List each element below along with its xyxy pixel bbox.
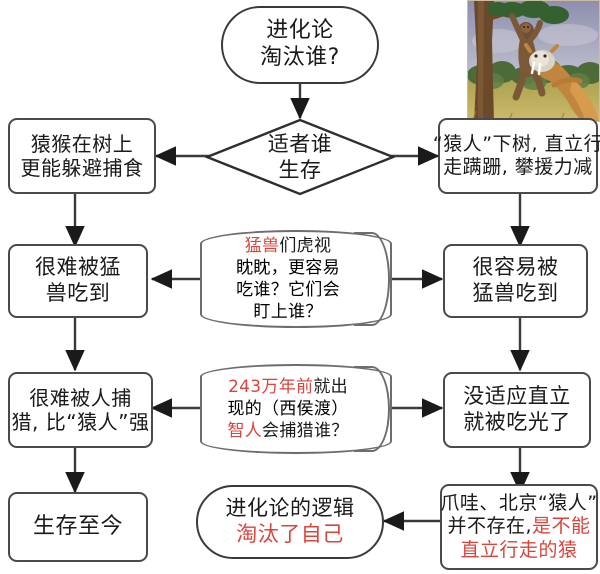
left-branch-node-1[interactable]: 猿猴在树上 更能躲避捕食 <box>8 118 156 194</box>
cyl-2-seg-1b: 就出 <box>313 377 348 397</box>
cyl-2-seg-3a: 智人 <box>227 421 262 441</box>
cyl-2-line-1: 243万年前就出 <box>228 376 348 398</box>
start-line-2: 淘汰谁? <box>260 45 340 72</box>
cyl-2-seg-3b: 会捕猎谁？ <box>262 421 349 441</box>
right-4-seg-1: 爪哇、北京“猿人” <box>440 492 597 514</box>
right-1-line-2: 走蹒跚, 攀援力减 <box>443 156 593 179</box>
start-node[interactable]: 进化论 淘汰谁? <box>221 6 379 84</box>
left-2-line-1: 很难被猛 <box>35 255 121 281</box>
right-branch-node-4[interactable]: 爪哇、北京“猿人” 并不存在,是不能 直立行走的猿 <box>440 484 598 570</box>
right-4-line-1: 爪哇、北京“猿人” <box>440 492 597 515</box>
right-4-line-2: 并不存在,是不能 <box>447 515 590 538</box>
left-1-line-2: 更能躲避捕食 <box>21 156 144 180</box>
right-branch-node-3[interactable]: 没适应直立 就被吃光了 <box>443 372 591 448</box>
flowchart-canvas: 进化论 淘汰谁? 适者谁 生存 猿猴在树上 更能躲避捕食 很难被猛 兽吃到 很难… <box>0 0 600 574</box>
cyl-1-seg-1b: 们虎视 <box>279 236 331 256</box>
conclusion-line-2: 淘汰了自己 <box>236 522 344 548</box>
left-3-line-2: 猎, 比“猿人”强 <box>12 410 150 434</box>
right-2-line-1: 很容易被 <box>473 255 559 281</box>
left-1-line-1: 猿猴在树上 <box>31 132 134 156</box>
decision-line-2: 生存 <box>279 157 322 183</box>
left-2-line-2: 兽吃到 <box>46 281 111 307</box>
right-4-seg-2a: 并不存在, <box>447 515 532 537</box>
conclusion-node[interactable]: 进化论的逻辑 淘汰了自己 <box>196 485 384 559</box>
start-line-1: 进化论 <box>266 18 334 45</box>
cyl-1-line-2: 眈眈，更容易 <box>236 257 340 279</box>
right-3-line-1: 没适应直立 <box>463 384 571 410</box>
question-cylinder-1[interactable]: 猛兽们虎视 眈眈，更容易 吃谁？它们会 盯上谁？ <box>200 230 392 328</box>
left-3-line-1: 很难被人捕 <box>29 386 132 410</box>
right-branch-node-2[interactable]: 很容易被 猛兽吃到 <box>443 244 588 318</box>
right-2-line-2: 猛兽吃到 <box>473 281 559 307</box>
conclusion-line-1: 进化论的逻辑 <box>226 496 355 522</box>
right-4-seg-2b: 是不能 <box>532 515 591 537</box>
left-branch-node-4[interactable]: 生存至今 <box>8 492 148 562</box>
decision-node[interactable]: 适者谁 生存 <box>205 118 395 196</box>
cyl-1-line-4: 盯上谁？ <box>253 301 322 323</box>
right-3-line-2: 就被吃光了 <box>463 410 571 436</box>
cyl-1-line-3: 吃谁？它们会 <box>236 279 340 301</box>
left-branch-node-3[interactable]: 很难被人捕 猎, 比“猿人”强 <box>8 372 153 448</box>
right-4-line-3: 直立行走的猿 <box>460 539 577 562</box>
left-4-line-1: 生存至今 <box>33 514 123 541</box>
right-1-line-1: “猿人”下树, 直立行 <box>433 133 600 156</box>
cyl-2-line-2: 现的（西侯渡） <box>227 398 348 420</box>
cyl-2-line-3: 智人会捕猎谁？ <box>227 420 348 442</box>
left-branch-node-2[interactable]: 很难被猛 兽吃到 <box>8 244 148 318</box>
cyl-1-line-1: 猛兽们虎视 <box>245 235 332 257</box>
right-branch-node-1[interactable]: “猿人”下树, 直立行 走蹒跚, 攀援力减 <box>438 118 598 194</box>
decision-line-1: 适者谁 <box>268 131 333 157</box>
cyl-1-seg-1a: 猛兽 <box>245 236 280 256</box>
ape-vs-sabertooth-illustration <box>467 0 600 122</box>
cyl-2-seg-1a: 243万年前 <box>228 377 313 397</box>
question-cylinder-2[interactable]: 243万年前就出 现的（西侯渡） 智人会捕猎谁？ <box>200 364 392 454</box>
